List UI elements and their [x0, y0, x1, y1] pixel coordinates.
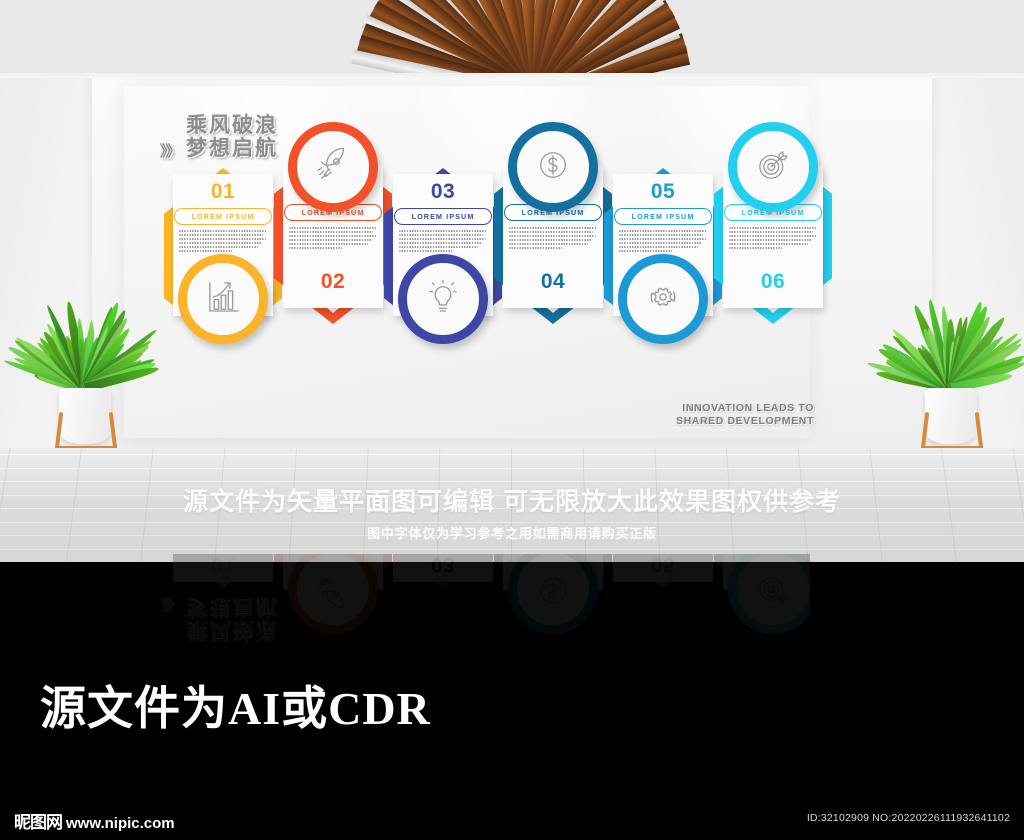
- potted-plant-right: [892, 262, 1010, 468]
- ghost-rocket-icon-badge[interactable]: [288, 554, 378, 634]
- site-logo[interactable]: 昵图网 www.nipic.com: [14, 808, 175, 833]
- lightbulb-icon: [422, 276, 464, 323]
- infographic-node[interactable]: 02 LOREM IPSUM: [274, 130, 392, 360]
- node-number: 06: [714, 270, 832, 294]
- node-label-pill[interactable]: LOREM IPSUM: [174, 208, 272, 225]
- asset-id-text: ID:32102909 NO:20220226111932641102: [807, 812, 1010, 824]
- watermark-line-1: 源文件为矢量平面图可编辑 可无限放大此效果图权供参考: [0, 482, 1024, 518]
- infographic-node[interactable]: 04 LOREM IPSUM: [494, 130, 612, 360]
- node-label-pill[interactable]: LOREM IPSUM: [394, 208, 492, 225]
- node-number: 05: [604, 180, 722, 204]
- dollar-coin-icon-badge[interactable]: [508, 122, 598, 212]
- target-dart-icon-badge[interactable]: [728, 122, 818, 212]
- ghost-rocket-icon: [312, 566, 354, 613]
- plant-foliage: [892, 262, 1010, 388]
- ghost-infographic-node[interactable]: 02 LOREM IPSUM: [274, 554, 392, 626]
- node-body-text: [619, 230, 707, 254]
- ghost-infographic-node[interactable]: 03 LOREM IPSUM: [384, 554, 502, 626]
- plant-pot: [59, 388, 111, 444]
- gear-cycle-icon-badge[interactable]: [618, 254, 708, 344]
- plant-foliage: [26, 262, 144, 388]
- plant-pot: [925, 388, 977, 444]
- ghost-node-number: 01: [164, 554, 282, 576]
- footer-bar: 昵图网 www.nipic.com ID:32102909 NO:2022022…: [0, 800, 1024, 840]
- ghost-dollar-coin-icon-badge[interactable]: [508, 554, 598, 634]
- tagline-line-1: INNOVATION LEADS TO: [676, 402, 814, 415]
- poster-canvas: 乘风破浪 》》 梦想启航 01 LOREM IPSUM: [0, 0, 1024, 840]
- ghost-target-dart-icon-badge[interactable]: [728, 554, 810, 634]
- growth-bar-chart-icon-badge[interactable]: [178, 254, 268, 344]
- wood-slat-ceiling: [0, 0, 1024, 82]
- room-scene: 乘风破浪 》》 梦想启航 01 LOREM IPSUM: [0, 0, 1024, 570]
- node-number: 03: [384, 180, 502, 204]
- site-logo-url: www.nipic.com: [66, 815, 175, 832]
- growth-bar-chart-icon: [202, 276, 244, 323]
- ghost-infographic-node[interactable]: 04 LOREM IPSUM: [494, 554, 612, 626]
- target-dart-icon: [752, 144, 794, 191]
- floor-plank-line: [0, 549, 1024, 550]
- ghost-infographic-node[interactable]: 05 LOREM IPSUM: [604, 554, 722, 626]
- ghost-infographic-node[interactable]: 01 LOREM IPSUM: [164, 554, 282, 626]
- node-label-pill[interactable]: LOREM IPSUM: [614, 208, 712, 225]
- infographic-node[interactable]: 06 LOREM IPSUM: [714, 130, 832, 360]
- lightbulb-icon-badge[interactable]: [398, 254, 488, 344]
- node-body-text: [729, 227, 817, 251]
- node-number: 04: [494, 270, 612, 294]
- mirrored-ghost-graphic: 乘风破浪 》》 梦想启航 01 LOREM IPSUM: [124, 554, 810, 674]
- infographic: 乘风破浪 》》 梦想启航 01 LOREM IPSUM: [124, 554, 810, 670]
- infographic-node[interactable]: 03 LOREM IPSUM: [384, 130, 502, 360]
- ghost-dollar-coin-icon: [532, 566, 574, 613]
- tagline-line-2: SHARED DEVELOPMENT: [676, 415, 814, 428]
- node-body-text: [289, 227, 377, 251]
- potted-plant-left: [26, 262, 144, 468]
- watermark-text-block: 源文件为矢量平面图可编辑 可无限放大此效果图权供参考 图中字体仅为学习参考之用如…: [0, 482, 1024, 542]
- ghost-node-number: 03: [384, 554, 502, 576]
- infographic: 乘风破浪 》》 梦想启航 01 LOREM IPSUM: [124, 86, 810, 438]
- rocket-icon-badge[interactable]: [288, 122, 378, 212]
- node-body-text: [179, 230, 267, 254]
- node-body-text: [399, 230, 487, 254]
- tagline-block: INNOVATION LEADS TO SHARED DEVELOPMENT: [676, 402, 814, 428]
- ghost-node-number: 05: [604, 554, 722, 576]
- ghost-infographic-node[interactable]: 06 LOREM IPSUM: [714, 554, 810, 626]
- node-body-text: [509, 227, 597, 251]
- node-number: 01: [164, 180, 282, 204]
- infographic-node[interactable]: 01 LOREM IPSUM: [164, 130, 282, 360]
- ghost-target-dart-icon: [752, 566, 794, 613]
- gear-cycle-icon: [642, 276, 684, 323]
- bottom-black-band: 乘风破浪 》》 梦想启航 01 LOREM IPSUM: [0, 562, 1024, 840]
- infographic-node[interactable]: 05 LOREM IPSUM: [604, 130, 722, 360]
- rocket-icon: [312, 144, 354, 191]
- source-format-headline: 源文件为AI或CDR: [40, 672, 431, 738]
- node-number: 02: [274, 270, 392, 294]
- dollar-coin-icon: [532, 144, 574, 191]
- watermark-line-2: 图中字体仅为学习参考之用如需商用请购买正版: [0, 523, 1024, 542]
- site-logo-mark: 昵图网: [14, 808, 62, 833]
